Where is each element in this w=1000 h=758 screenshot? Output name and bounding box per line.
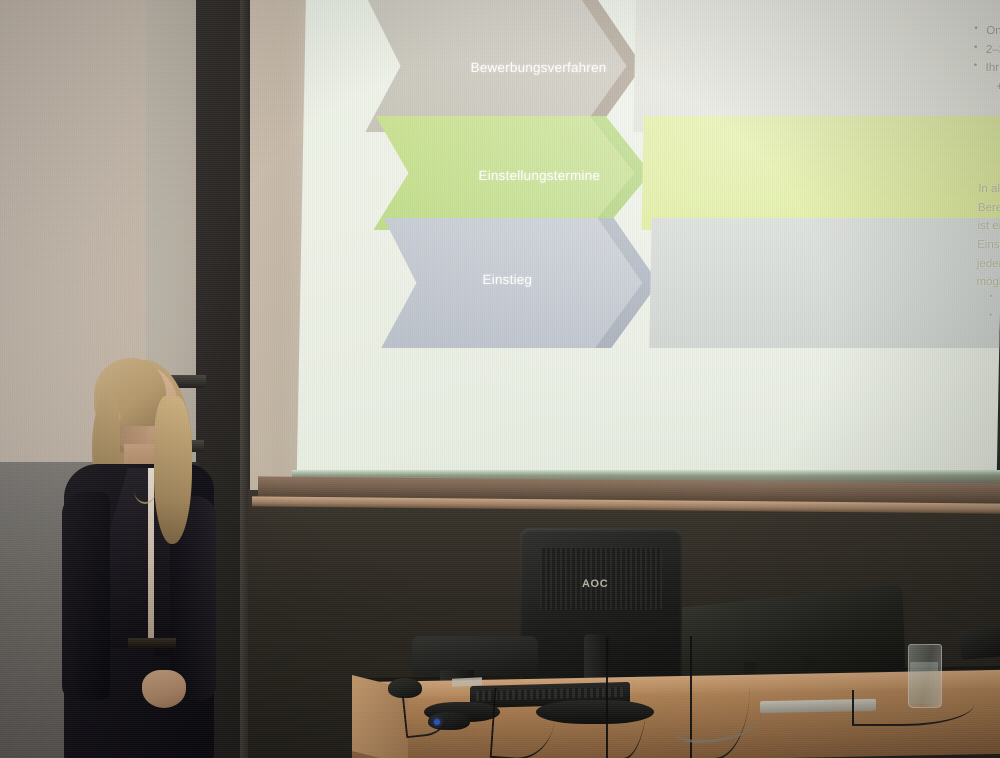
slide-band-bewerbungsverfahren: Bewerbungsverfahren: [365, 0, 1000, 132]
slide-band-einstieg: Einstieg: [381, 218, 1000, 348]
slide-bullet: Training-on-the-job wird begleitet durch…: [988, 290, 1000, 309]
presenter-arm-left: [62, 492, 110, 700]
secondary-monitor-rear: [412, 636, 538, 676]
slide-bullet: Ihr Kontakt: Unser Recruitingteam: [972, 59, 1000, 78]
presenter: [50, 352, 230, 758]
lecture-hall-photo: Bewerbungsverfahren Einstellungstermine …: [0, 0, 1000, 758]
band-label-einstellungstermine: Einstellungstermine: [478, 168, 600, 183]
presenter-necklace: [134, 476, 156, 504]
presenter-belt: [128, 638, 176, 648]
monitor-brand-logo: AOC: [582, 578, 608, 590]
slide-bullet: Online-Bewerbung über www.deloitte.com/c…: [973, 22, 1000, 41]
slide-bullets-bewerbungsverfahren: Online-Bewerbung über www.deloitte.com/c…: [972, 22, 1000, 97]
projection-screen: Bewerbungsverfahren Einstellungstermine …: [297, 0, 1000, 480]
slide-bullets-einstieg: Training-on-the-job wird begleitet durch…: [988, 290, 1000, 327]
band-label-bewerbungsverfahren: Bewerbungsverfahren: [470, 60, 606, 75]
slide-panel-grey: [633, 0, 1000, 132]
slide-panel-bluegrey: [649, 218, 1000, 348]
slide-contact-line: +49 (0)211 8772 4111 oder career@deloitt…: [972, 78, 1000, 97]
slide-bullet: Anleitung und Förderung durch erfahrene …: [988, 309, 1000, 328]
far-right-device: [959, 626, 1000, 660]
slide-panel-green: [641, 116, 1000, 230]
slide-text-einstellungstermine: In allen Bereichen ist ein Einstieg jede…: [976, 180, 1000, 292]
slide-plain-line: In allen Bereichen ist ein Einstieg jede…: [976, 180, 1000, 292]
presenter-hands: [142, 670, 186, 708]
band-label-einstieg: Einstieg: [482, 272, 532, 287]
presenter-hair-strand-right: [154, 396, 192, 544]
slide-bullet: 2–3 Monate vor dem gewünschten Eintritts…: [973, 41, 1000, 60]
slide-band-einstellungstermine: Einstellungstermine: [373, 116, 1000, 230]
